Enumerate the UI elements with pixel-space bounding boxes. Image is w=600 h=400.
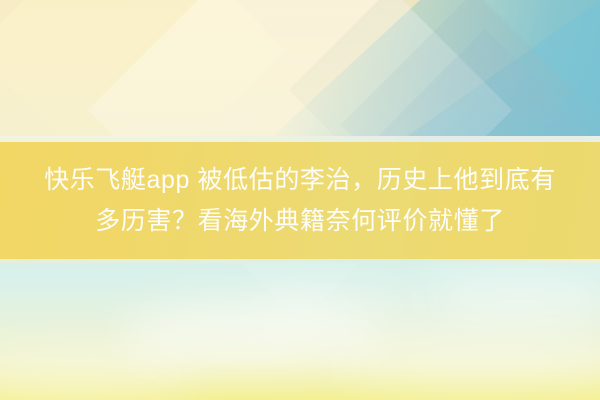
title-line-2: 多历害？看海外典籍奈何评价就懂了 [95,201,505,242]
background-haze-right [330,330,600,390]
background-haze-upper-right [420,270,600,325]
band-bottom-divider [0,259,600,263]
title-band: 快乐飞艇app 被低估的李治，历史上他到底有 多历害？看海外典籍奈何评价就懂了 [0,142,600,259]
promo-banner: 快乐飞艇app 被低估的李治，历史上他到底有 多历害？看海外典籍奈何评价就懂了 [0,0,600,400]
title-line-1: 快乐飞艇app 被低估的李治，历史上他到底有 [44,160,556,201]
